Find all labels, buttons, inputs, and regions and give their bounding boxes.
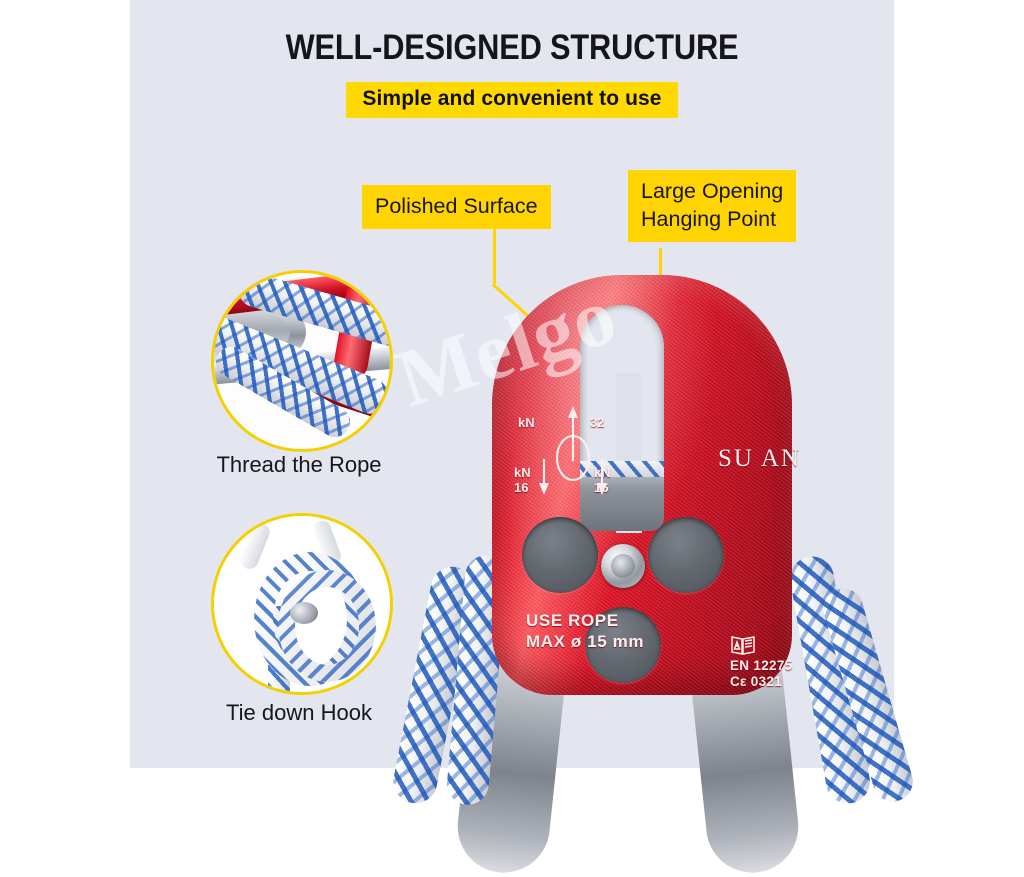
load-rating-diagram: kN 32 kN16 kN16 <box>518 415 638 501</box>
cutout-hole-right <box>648 517 724 593</box>
cutout-hole-left <box>522 517 598 593</box>
subtitle-badge: Simple and convenient to use <box>346 82 677 118</box>
rope-spec-line-1: USE ROPE <box>526 610 644 631</box>
read-manual-icon <box>730 633 756 657</box>
load-arrows-icon <box>518 415 638 501</box>
hook-core <box>290 602 318 624</box>
rope-spec-engraving: USE ROPE MAX ø 15 mm <box>526 610 644 652</box>
callout-large-opening-hanging-point: Large Opening Hanging Point <box>628 170 796 242</box>
center-axle-rivet-inner <box>611 554 635 578</box>
brand-engraving: SU AN <box>718 445 801 473</box>
certification-engraving: EN 12275 Cε 0321 <box>730 633 792 690</box>
caption-thread-the-rope: Thread the Rope <box>149 452 449 478</box>
inset-tie-down-hook <box>211 513 393 695</box>
ce-mark-label: Cε 0321 <box>730 674 792 690</box>
inset-thread-the-rope <box>211 270 393 452</box>
page-title: WELL-DESIGNED STRUCTURE <box>176 28 848 68</box>
rope-knot-loop-inner <box>278 570 376 682</box>
standard-label: EN 12275 <box>730 658 792 674</box>
product-pulley: kN 32 kN16 kN16 SU AN <box>430 255 900 768</box>
callout-polished-surface: Polished Surface <box>362 185 551 229</box>
rope-spec-line-2: MAX ø 15 mm <box>526 631 644 652</box>
infographic-stage: WELL-DESIGNED STRUCTURE Simple and conve… <box>0 0 1024 768</box>
subtitle-wrapper: Simple and convenient to use <box>130 82 894 118</box>
